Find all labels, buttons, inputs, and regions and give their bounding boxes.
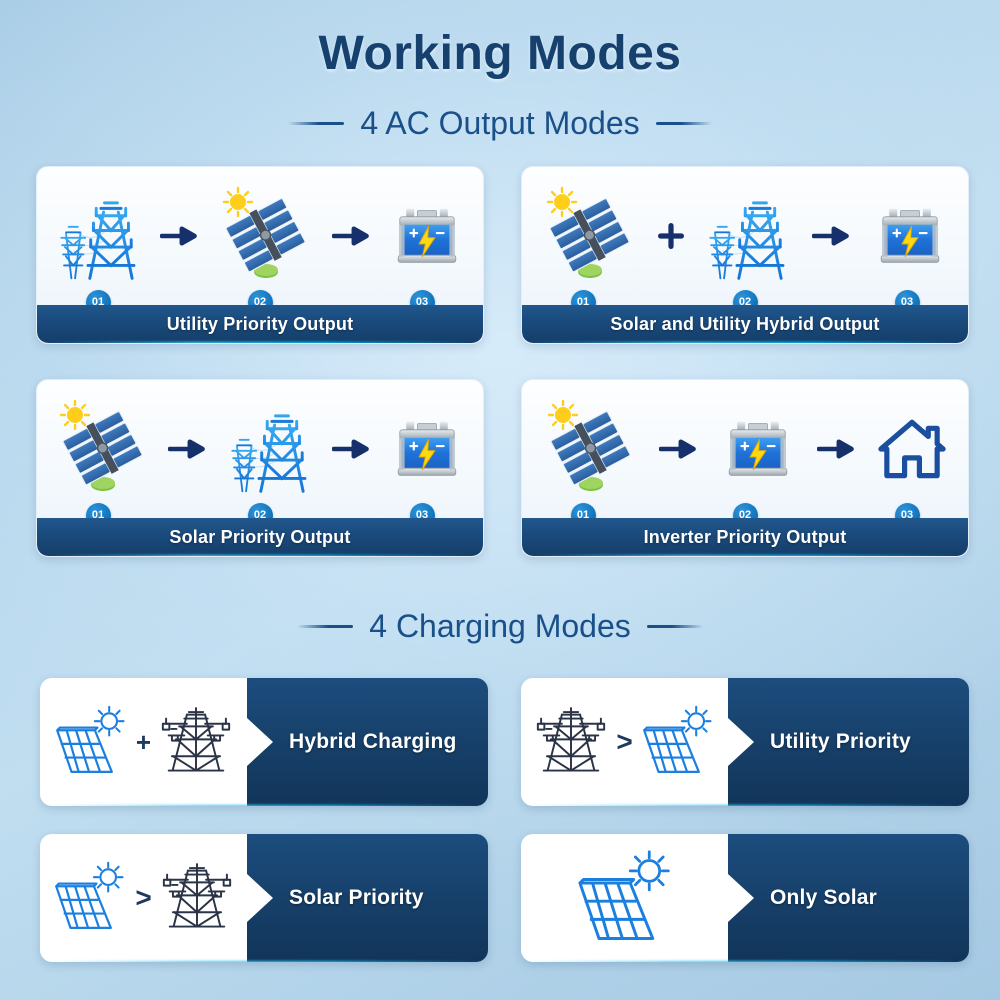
solar-panel-icon bbox=[540, 188, 640, 284]
section-heading-ac-output: 4 AC Output Modes bbox=[0, 105, 1000, 142]
arrow-right-icon bbox=[332, 188, 372, 284]
battery-icon bbox=[387, 188, 467, 284]
operator-greater-than: > bbox=[616, 728, 632, 756]
solar-panel-icon bbox=[53, 401, 153, 497]
solar-panel-line-icon bbox=[639, 704, 717, 781]
ac-mode-card-solar-utility-hybrid[interactable]: 01 02 03 Solar and Utility Hybrid Output bbox=[521, 166, 969, 344]
flow-row bbox=[522, 380, 968, 518]
ac-mode-label: Solar Priority Output bbox=[37, 518, 483, 556]
charging-icons bbox=[521, 834, 728, 962]
charging-mode-card-only-solar[interactable]: Only Solar bbox=[521, 834, 969, 962]
power-tower-icon bbox=[53, 188, 145, 284]
ac-mode-card-utility-priority[interactable]: 01 02 03 Utility Priority Output bbox=[36, 166, 484, 344]
flow-step-3 bbox=[387, 401, 467, 497]
infographic-page: Working Modes 4 AC Output Modes bbox=[0, 0, 1000, 1000]
charging-mode-card-utility-priority[interactable]: > Utility Priority bbox=[521, 678, 969, 806]
flow-step-3 bbox=[387, 188, 467, 284]
battery-icon bbox=[387, 401, 467, 497]
charging-icons: > bbox=[521, 678, 728, 806]
charging-label-panel: Utility Priority bbox=[728, 678, 969, 806]
flow-step-2 bbox=[702, 188, 794, 284]
operator-plus: + bbox=[136, 729, 151, 755]
page-title: Working Modes bbox=[0, 26, 1000, 81]
flow-step-3 bbox=[875, 401, 949, 497]
ac-mode-label: Inverter Priority Output bbox=[522, 518, 968, 556]
solar-panel-icon bbox=[541, 401, 641, 497]
arrow-right-icon bbox=[168, 401, 208, 497]
heading-rule-right bbox=[656, 122, 712, 125]
house-icon bbox=[875, 401, 949, 497]
arrow-right-icon bbox=[659, 401, 699, 497]
flow-step-2 bbox=[216, 188, 316, 284]
flow-step-1 bbox=[53, 188, 145, 284]
power-tower-line-icon bbox=[532, 704, 610, 781]
operator-greater-than: > bbox=[135, 884, 151, 912]
heading-rule-left bbox=[297, 625, 353, 628]
flow-step-1 bbox=[540, 188, 640, 284]
power-tower-line-icon bbox=[158, 860, 236, 937]
charging-mode-label: Solar Priority bbox=[289, 886, 424, 910]
solar-panel-icon bbox=[216, 188, 316, 284]
chevron-notch-icon bbox=[247, 874, 273, 922]
heading-rule-left bbox=[288, 122, 344, 125]
chevron-notch-icon bbox=[728, 874, 754, 922]
chevron-notch-icon bbox=[247, 718, 273, 766]
ac-mode-label: Utility Priority Output bbox=[37, 305, 483, 343]
charging-mode-card-solar-priority[interactable]: > Solar Priority bbox=[40, 834, 488, 962]
charging-mode-label: Utility Priority bbox=[770, 730, 911, 754]
charging-label-panel: Only Solar bbox=[728, 834, 969, 962]
arrow-right-icon bbox=[812, 188, 852, 284]
ac-mode-card-inverter-priority[interactable]: 01 02 03 Inverter Priority Output bbox=[521, 379, 969, 557]
charging-mode-card-hybrid-charging[interactable]: + Hybrid Charging bbox=[40, 678, 488, 806]
solar-panel-line-icon bbox=[573, 848, 677, 949]
section-heading-label: 4 AC Output Modes bbox=[360, 105, 639, 142]
flow-step-1 bbox=[53, 401, 153, 497]
charging-icons: + bbox=[40, 678, 247, 806]
solar-panel-line-icon bbox=[52, 704, 130, 781]
flow-row bbox=[37, 380, 483, 518]
power-tower-icon bbox=[224, 401, 316, 497]
charging-label-panel: Hybrid Charging bbox=[247, 678, 488, 806]
flow-step-1 bbox=[541, 401, 641, 497]
battery-icon bbox=[718, 401, 798, 497]
chevron-notch-icon bbox=[728, 718, 754, 766]
plus-icon bbox=[658, 188, 684, 284]
solar-panel-line-icon bbox=[51, 860, 129, 937]
charging-label-panel: Solar Priority bbox=[247, 834, 488, 962]
charging-icons: > bbox=[40, 834, 247, 962]
charging-mode-label: Only Solar bbox=[770, 886, 877, 910]
arrow-right-icon bbox=[160, 188, 200, 284]
heading-rule-right bbox=[647, 625, 703, 628]
section-heading-charging: 4 Charging Modes bbox=[0, 608, 1000, 645]
ac-mode-label: Solar and Utility Hybrid Output bbox=[522, 305, 968, 343]
flow-step-2 bbox=[224, 401, 316, 497]
power-tower-icon bbox=[702, 188, 794, 284]
flow-row bbox=[522, 167, 968, 305]
charging-mode-label: Hybrid Charging bbox=[289, 730, 457, 754]
battery-icon bbox=[870, 188, 950, 284]
power-tower-line-icon bbox=[157, 704, 235, 781]
section-heading-label: 4 Charging Modes bbox=[369, 608, 630, 645]
arrow-right-icon bbox=[332, 401, 372, 497]
arrow-right-icon bbox=[817, 401, 857, 497]
flow-step-2 bbox=[718, 401, 798, 497]
flow-step-3 bbox=[870, 188, 950, 284]
ac-mode-card-solar-priority[interactable]: 01 02 03 Solar Priority Output bbox=[36, 379, 484, 557]
flow-row bbox=[37, 167, 483, 305]
